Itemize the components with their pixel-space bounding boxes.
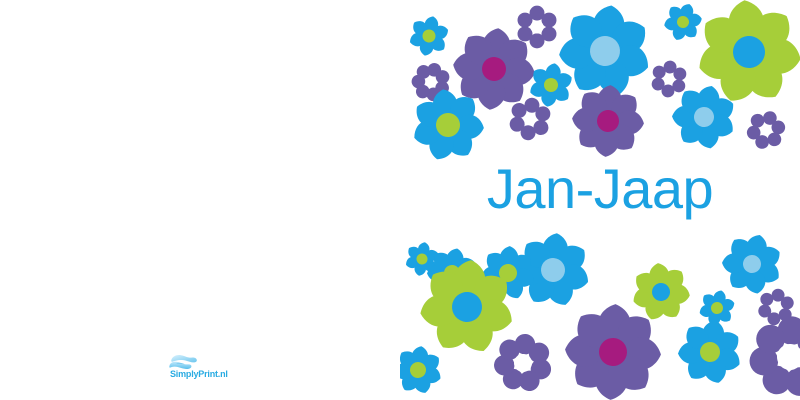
flower xyxy=(400,343,446,399)
flower-cluster-top xyxy=(405,0,800,168)
flower xyxy=(671,315,749,391)
logo-wordmark: SimplyPrint.nl xyxy=(170,369,228,379)
flower xyxy=(743,106,789,154)
flower xyxy=(747,314,800,398)
flower xyxy=(492,331,555,393)
greeting-card: Jan-Jaap SimplyPrint.nl xyxy=(0,0,800,400)
flower xyxy=(563,302,664,400)
flower-center xyxy=(531,21,544,34)
flower-petal xyxy=(518,13,533,28)
flower-petal xyxy=(518,26,533,41)
flower-cluster-bottom xyxy=(400,227,800,400)
recipient-name: Jan-Jaap xyxy=(400,160,800,218)
flower xyxy=(651,59,688,99)
flower xyxy=(405,12,454,60)
flower-petal xyxy=(542,13,557,28)
flower xyxy=(570,83,647,160)
flower xyxy=(628,260,695,325)
simplyprint-logo[interactable]: SimplyPrint.nl xyxy=(168,353,248,381)
flower xyxy=(658,0,708,47)
